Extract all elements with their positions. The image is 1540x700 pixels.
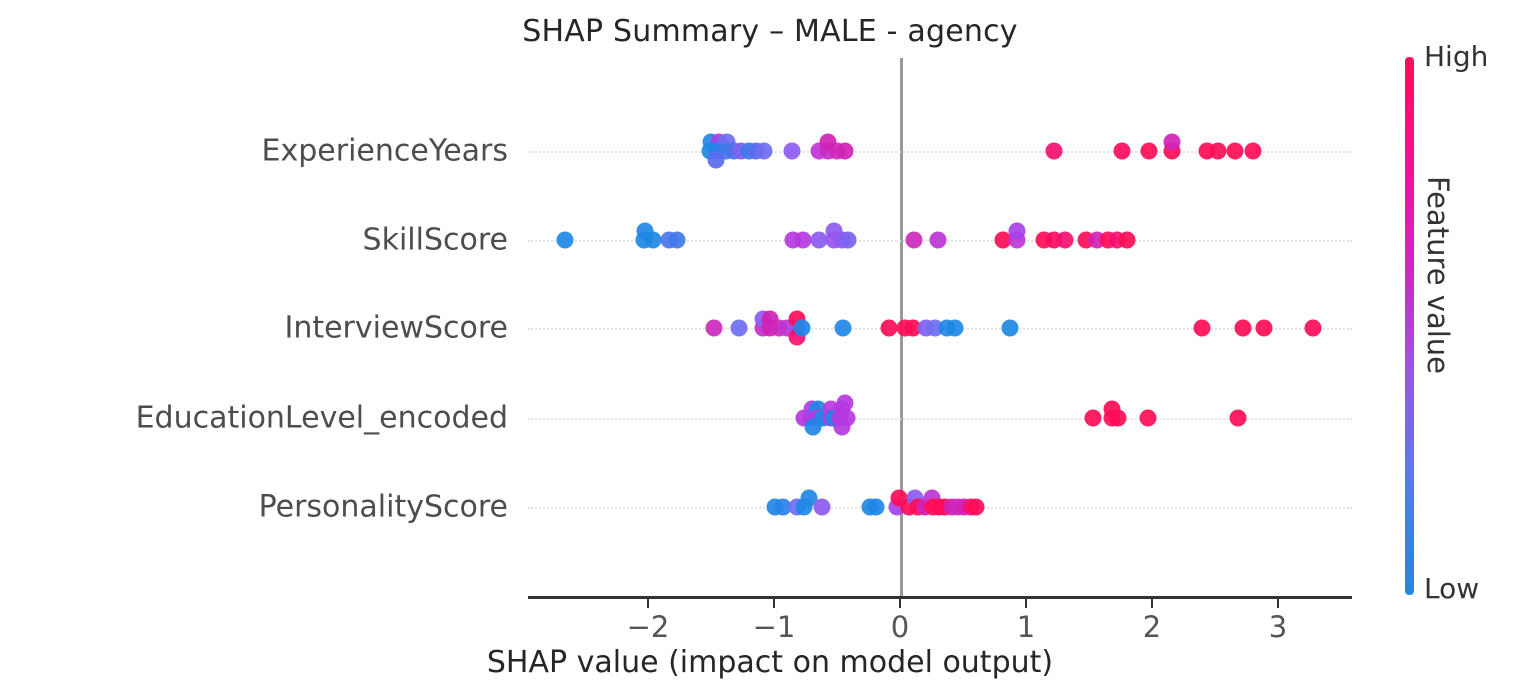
scatter-point (708, 151, 725, 168)
scatter-point (1244, 143, 1261, 160)
x-axis-tick (1025, 599, 1027, 608)
scatter-point (1009, 222, 1026, 239)
scatter-point (705, 320, 722, 337)
scatter-point (1234, 320, 1251, 337)
scatter-point (839, 410, 856, 427)
page-title: SHAP Summary – MALE - agency (0, 14, 1540, 49)
scatter-point (868, 499, 885, 516)
scatter-point (794, 232, 811, 249)
scatter-point (1118, 232, 1135, 249)
x-axis-tick (1277, 599, 1279, 608)
colorbar-high-label: High (1424, 40, 1488, 73)
x-axis-tick (647, 599, 649, 608)
scatter-point (793, 320, 810, 337)
y-axis-feature-label: InterviewScore (284, 311, 508, 346)
x-axis-tick (1151, 599, 1153, 608)
scatter-point (880, 320, 897, 337)
scatter-point (645, 232, 662, 249)
scatter-point (1256, 320, 1273, 337)
x-axis-tick (899, 599, 901, 608)
scatter-point (1084, 410, 1101, 427)
scatter-point (1141, 143, 1158, 160)
y-axis-feature-label: ExperienceYears (262, 134, 508, 169)
scatter-point (1227, 143, 1244, 160)
y-axis-feature-label: PersonalityScore (259, 490, 508, 525)
colorbar-gradient (1405, 57, 1414, 595)
scatter-point (1194, 320, 1211, 337)
x-axis-tick-label: 3 (1269, 610, 1287, 644)
scatter-point (836, 143, 853, 160)
scatter-point (967, 499, 984, 516)
scatter-point (905, 232, 922, 249)
x-axis-label: SHAP value (impact on model output) (0, 645, 1540, 680)
scatter-point (1164, 133, 1181, 150)
x-axis-tick-label: 0 (891, 610, 909, 644)
y-axis-feature-label: EducationLevel_encoded (136, 401, 508, 436)
scatter-point (668, 232, 685, 249)
x-axis-tick-label: −2 (627, 610, 670, 644)
scatter-point (1001, 320, 1018, 337)
scatter-point (1209, 143, 1226, 160)
scatter-point (1229, 410, 1246, 427)
scatter-point (813, 499, 830, 516)
scatter-point (1045, 143, 1062, 160)
x-axis-tick (773, 599, 775, 608)
scatter-point (755, 143, 772, 160)
scatter-point (820, 133, 837, 150)
scatter-point (929, 232, 946, 249)
scatter-point (1305, 320, 1322, 337)
y-axis-feature-label: SkillScore (363, 223, 508, 258)
plot-area (528, 58, 1352, 598)
scatter-point (836, 395, 853, 412)
shap-summary-plot: SHAP Summary – MALE - agency −2−10123 SH… (0, 0, 1540, 700)
scatter-point (1057, 232, 1074, 249)
x-axis-line (528, 596, 1352, 599)
scatter-point (556, 232, 573, 249)
scatter-point (1140, 410, 1157, 427)
colorbar-low-label: Low (1424, 572, 1479, 605)
scatter-point (1113, 143, 1130, 160)
scatter-point (947, 320, 964, 337)
scatter-point (783, 143, 800, 160)
scatter-point (840, 232, 857, 249)
scatter-point (835, 320, 852, 337)
x-axis-tick-label: 1 (1017, 610, 1035, 644)
scatter-point (1109, 410, 1126, 427)
scatter-point (730, 320, 747, 337)
x-axis-tick-label: −1 (753, 610, 796, 644)
x-axis-tick-label: 2 (1143, 610, 1161, 644)
colorbar-axis-label: Feature value (1421, 176, 1455, 476)
